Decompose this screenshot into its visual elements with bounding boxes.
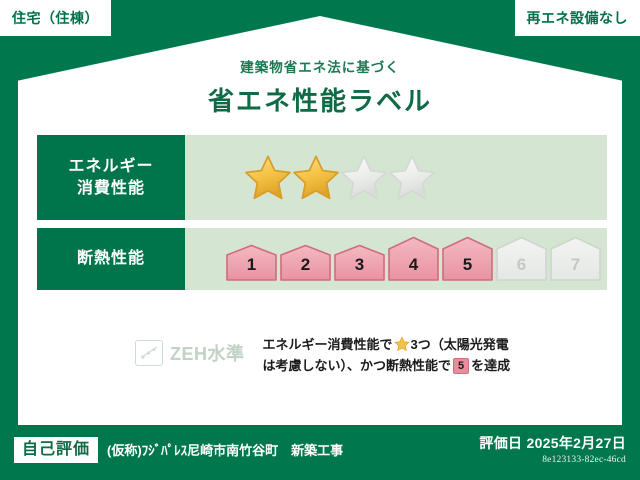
achievement-note: エネルギー消費性能で3つ（太陽光発電は考慮しない）、かつ断熱性能で5を達成 — [263, 334, 511, 377]
note-part4: を達成 — [471, 358, 510, 373]
note-insulation-chip: 5 — [453, 358, 469, 374]
insulation-level-6: 6 — [495, 236, 548, 282]
insulation-level-5: 5 — [441, 236, 494, 282]
house-shape-icon — [387, 236, 440, 282]
star-rating — [243, 154, 435, 202]
footer: 自己評価 (仮称)ﾌｼﾞﾊﾟﾚｽ尼崎市南竹谷町 新築工事 評価日 2025年2月… — [0, 425, 640, 480]
zeh-standard-mark: ZEH水準 — [135, 340, 245, 366]
house-shape-icon — [279, 244, 332, 282]
row-insulation-performance: 断熱性能 1234567 — [37, 228, 607, 290]
star-empty-icon — [339, 154, 389, 202]
tag-renewable-energy-label: 再エネ設備なし — [527, 8, 629, 28]
star-filled-icon — [243, 154, 293, 202]
evaluation-date: 評価日 2025年2月27日 — [479, 433, 626, 453]
insulation-level-3: 3 — [333, 244, 386, 282]
row-insulation-label-text: 断熱性能 — [77, 248, 145, 270]
row-energy-performance: エネルギー 消費性能 — [37, 135, 607, 220]
footer-left: 自己評価 (仮称)ﾌｼﾞﾊﾟﾚｽ尼崎市南竹谷町 新築工事 — [14, 437, 343, 463]
evaluation-id: 8e123133-82ec-46cd — [479, 455, 626, 465]
energy-performance-label: 住宅（住棟） 再エネ設備なし 建築物省エネ法に基づく 省エネ性能ラベル エネルギ… — [0, 0, 640, 480]
tag-renewable-energy: 再エネ設備なし — [515, 0, 640, 36]
zeh-house-icon — [135, 340, 163, 366]
self-evaluation-badge: 自己評価 — [14, 437, 98, 463]
row-energy-label-line2: 消費性能 — [77, 178, 145, 200]
insulation-level-7: 7 — [549, 236, 602, 282]
row-insulation-value: 1234567 — [185, 228, 607, 290]
note-part1: エネルギー消費性能で — [263, 337, 393, 352]
house-shape-icon — [495, 236, 548, 282]
page-title: 建築物省エネ法に基づく 省エネ性能ラベル — [0, 56, 640, 118]
footer-right: 評価日 2025年2月27日 8e123133-82ec-46cd — [479, 433, 626, 465]
tag-building-type-label: 住宅（住棟） — [12, 8, 99, 28]
note-part3: は考慮しない）、かつ断熱性能で — [263, 358, 452, 373]
title-subtitle: 建築物省エネ法に基づく — [0, 56, 640, 76]
house-shape-icon — [441, 236, 494, 282]
inline-star-icon — [394, 336, 410, 352]
note-part2: 3つ（太陽光発電 — [411, 337, 509, 352]
house-shape-icon — [225, 244, 278, 282]
insulation-level-4: 4 — [387, 236, 440, 282]
insulation-scale: 1234567 — [225, 236, 602, 282]
zeh-standard-label: ZEH水準 — [170, 340, 245, 366]
insulation-level-2: 2 — [279, 244, 332, 282]
tag-building-type: 住宅（住棟） — [0, 0, 111, 36]
insulation-level-1: 1 — [225, 244, 278, 282]
house-shape-icon — [333, 244, 386, 282]
house-shape-icon — [549, 236, 602, 282]
row-energy-value — [185, 135, 607, 220]
row-energy-label: エネルギー 消費性能 — [37, 135, 185, 220]
building-name: (仮称)ﾌｼﾞﾊﾟﾚｽ尼崎市南竹谷町 新築工事 — [107, 440, 343, 459]
star-empty-icon — [387, 154, 437, 202]
zeh-note-row: ZEH水準 エネルギー消費性能で3つ（太陽光発電は考慮しない）、かつ断熱性能で5… — [135, 334, 602, 377]
row-insulation-label: 断熱性能 — [37, 228, 185, 290]
title-main: 省エネ性能ラベル — [0, 81, 640, 118]
metrics-section: エネルギー 消費性能 断熱性能 1234567 — [37, 135, 607, 298]
row-energy-label-line1: エネルギー — [68, 156, 153, 178]
star-filled-icon — [291, 154, 341, 202]
